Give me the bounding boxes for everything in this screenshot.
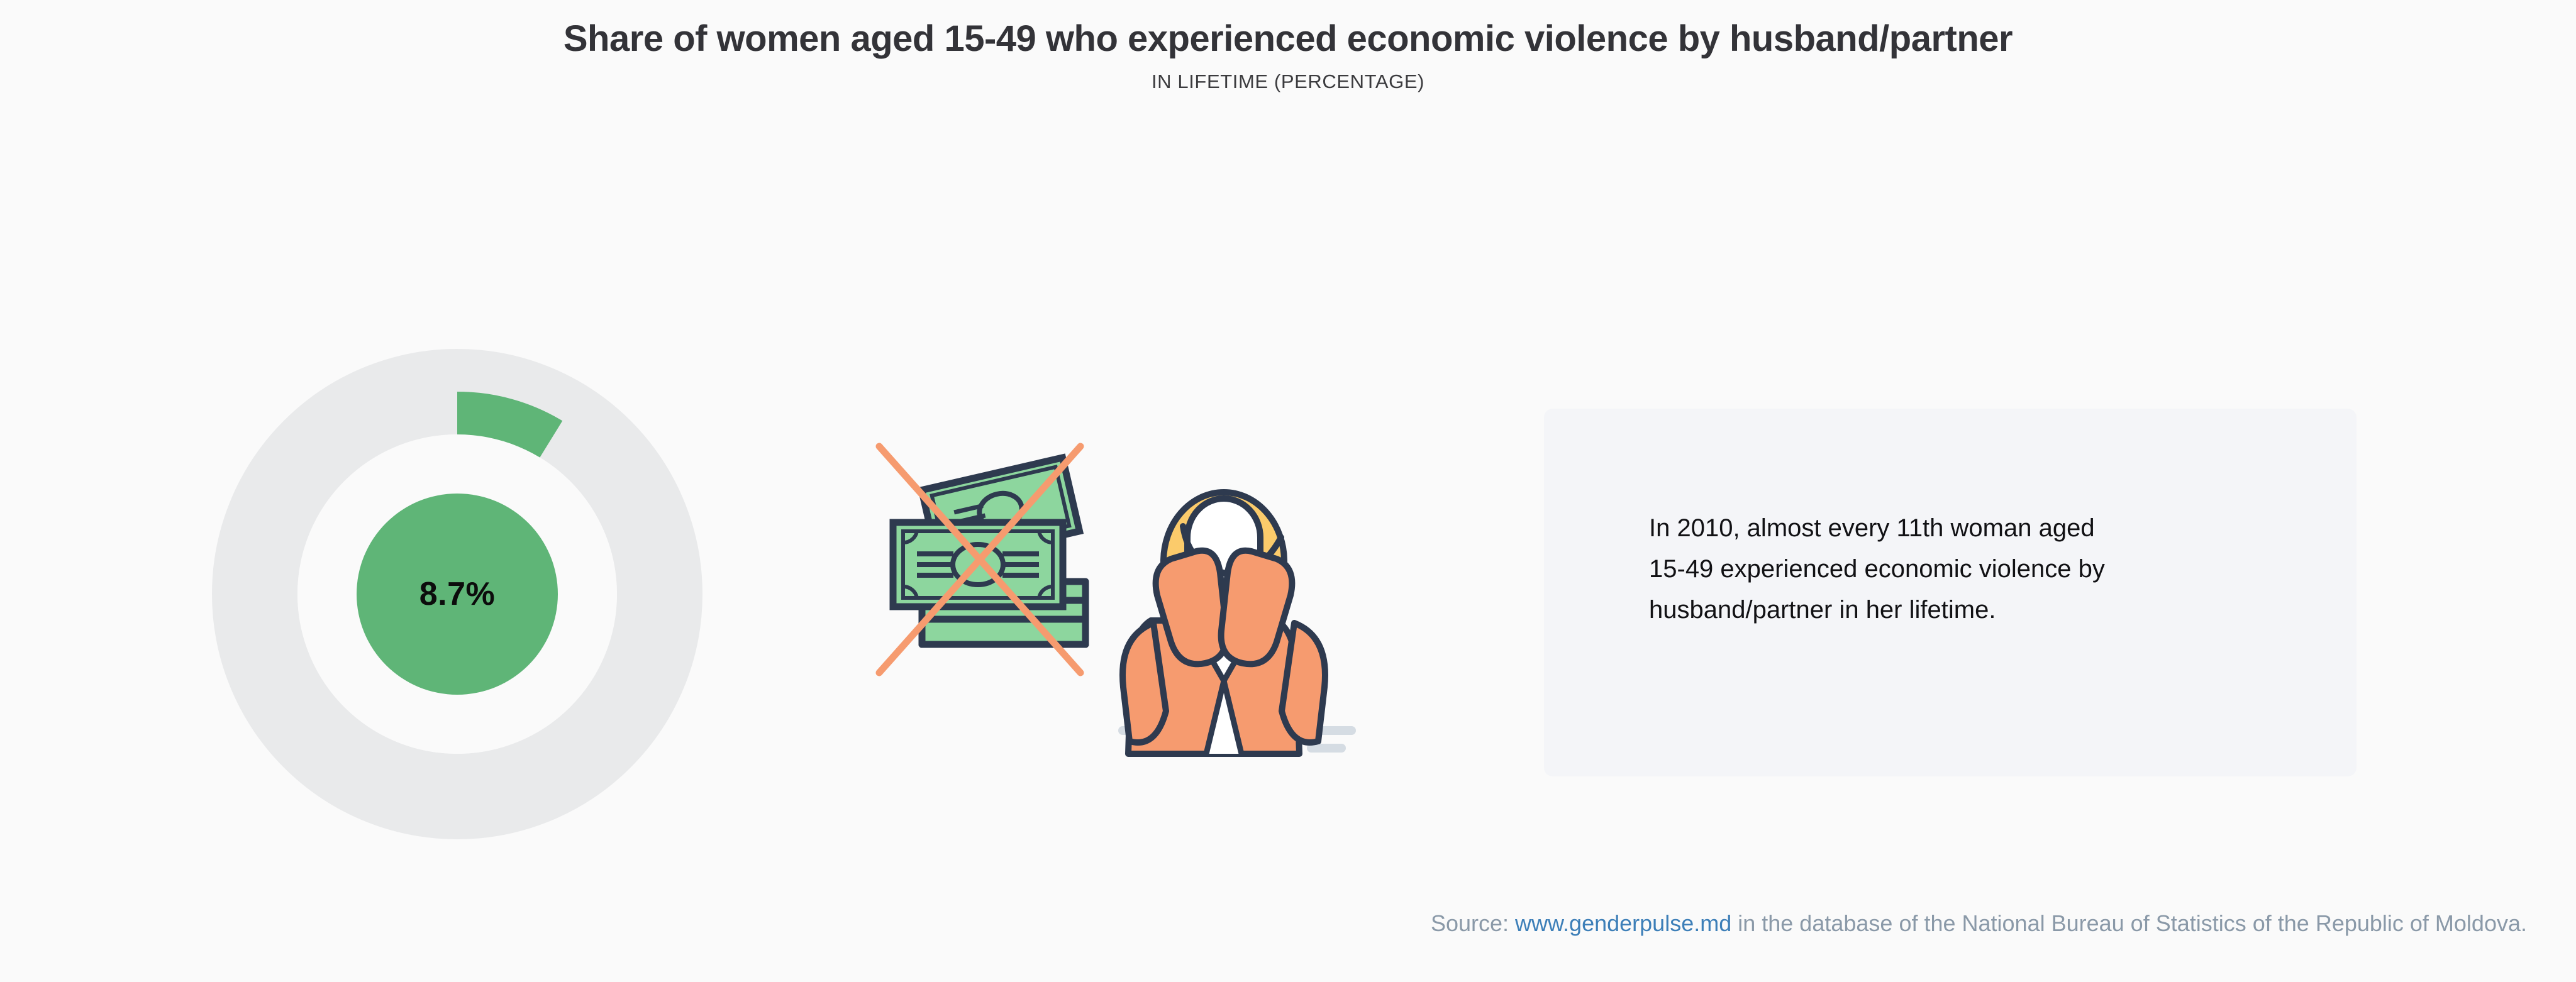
source-line: Source: www.genderpulse.md in the databa… — [0, 910, 2527, 937]
donut-value-label: 8.7% — [212, 349, 702, 839]
donut-chart: 8.7% — [212, 349, 702, 839]
info-panel: In 2010, almost every 11th woman aged 15… — [1544, 409, 2357, 776]
header: Share of women aged 15-49 who experience… — [0, 18, 2576, 93]
page-subtitle: IN LIFETIME (PERCENTAGE) — [0, 70, 2576, 93]
illustration — [867, 412, 1370, 764]
source-suffix: in the database of the National Bureau o… — [1731, 910, 2527, 936]
distressed-woman-icon — [1123, 492, 1325, 754]
illustration-svg — [867, 412, 1370, 764]
source-link[interactable]: www.genderpulse.md — [1515, 910, 1731, 936]
source-prefix: Source: — [1431, 910, 1515, 936]
page-title: Share of women aged 15-49 who experience… — [219, 18, 2357, 60]
info-panel-text: In 2010, almost every 11th woman aged 15… — [1649, 508, 2265, 630]
